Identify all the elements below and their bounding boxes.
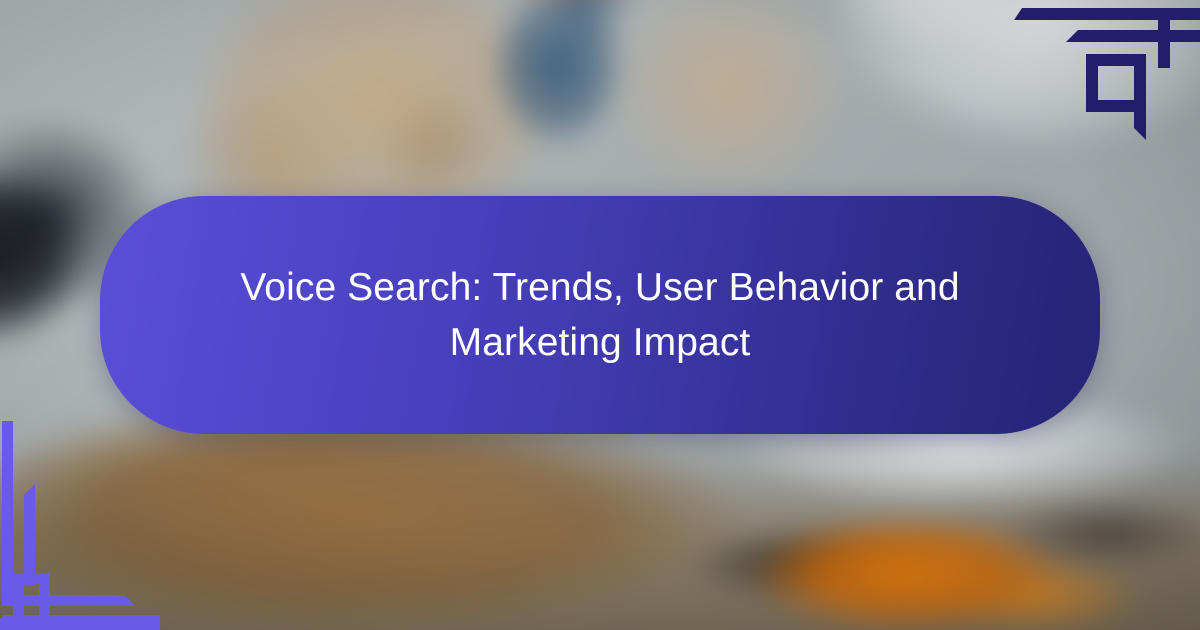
corner-ornament-bottom-left-icon	[0, 415, 160, 630]
page-title: Voice Search: Trends, User Behavior and …	[186, 260, 1014, 371]
title-card: Voice Search: Trends, User Behavior and …	[100, 196, 1100, 434]
share-card-canvas: Voice Search: Trends, User Behavior and …	[0, 0, 1200, 630]
corner-ornament-top-right-icon	[1000, 0, 1200, 140]
